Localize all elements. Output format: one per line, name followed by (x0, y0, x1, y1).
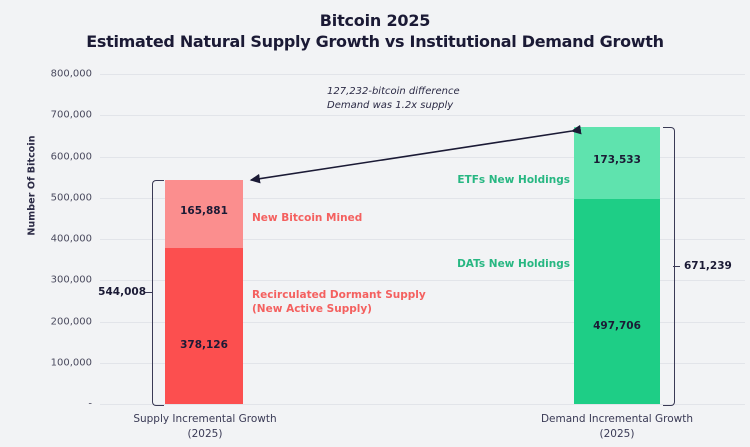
demand-total-bracket-tick (673, 266, 680, 267)
y-axis-tick-label: - (0, 399, 92, 410)
gridline (100, 115, 745, 116)
chart-subtitle: Estimated Natural Supply Growth vs Insti… (0, 31, 750, 53)
chart-title: Bitcoin 2025 (0, 10, 750, 31)
plot-area: 378,126165,881497,706173,533 (100, 74, 745, 404)
demand-bar-segment-dats-new-holdings[interactable]: 497,706 (574, 199, 660, 404)
supply-total-bracket (152, 180, 164, 406)
series-label-new-bitcoin-mined: New Bitcoin Mined (252, 211, 452, 225)
supply-total-label: 544,008 (96, 286, 146, 298)
chart-title-block: Bitcoin 2025 Estimated Natural Supply Gr… (0, 10, 750, 53)
demand-bar-segment-etfs-new-holdings[interactable]: 173,533 (574, 127, 660, 199)
x-axis-label-supply: Supply Incremental Growth (2025) (125, 412, 285, 442)
series-label-dats-new-holdings: DATs New Holdings (380, 257, 570, 271)
difference-annotation: 127,232-bitcoin difference Demand was 1.… (327, 85, 587, 113)
y-axis-tick-label: 800,000 (0, 69, 92, 80)
gridline (100, 74, 745, 75)
demand-total-label: 671,239 (684, 260, 732, 272)
bar-value-label: 497,706 (574, 320, 660, 332)
chart-root: Bitcoin 2025 Estimated Natural Supply Gr… (0, 0, 750, 447)
y-axis-tick-label: 400,000 (0, 234, 92, 245)
bar-value-label: 378,126 (165, 339, 243, 351)
supply-bar-segment-recirculated-dormant-supply[interactable]: 378,126 (165, 248, 243, 404)
supply-bar-segment-new-bitcoin-mined[interactable]: 165,881 (165, 180, 243, 248)
bar-value-label: 173,533 (574, 154, 660, 166)
y-axis-tick-label: 100,000 (0, 357, 92, 368)
supply-total-bracket-tick (145, 292, 152, 293)
y-axis-tick-label: 500,000 (0, 192, 92, 203)
x-axis-label-demand: Demand Incremental Growth (2025) (537, 412, 697, 442)
gridline (100, 404, 745, 405)
bar-value-label: 165,881 (165, 205, 243, 217)
series-label-etfs-new-holdings: ETFs New Holdings (380, 173, 570, 187)
y-axis-tick-label: 600,000 (0, 151, 92, 162)
y-axis-tick-label: 200,000 (0, 316, 92, 327)
y-axis-tick-label: 700,000 (0, 110, 92, 121)
series-label-recirculated-dormant-supply: Recirculated Dormant Supply (New Active … (252, 288, 472, 316)
y-axis-tick-label: 300,000 (0, 275, 92, 286)
